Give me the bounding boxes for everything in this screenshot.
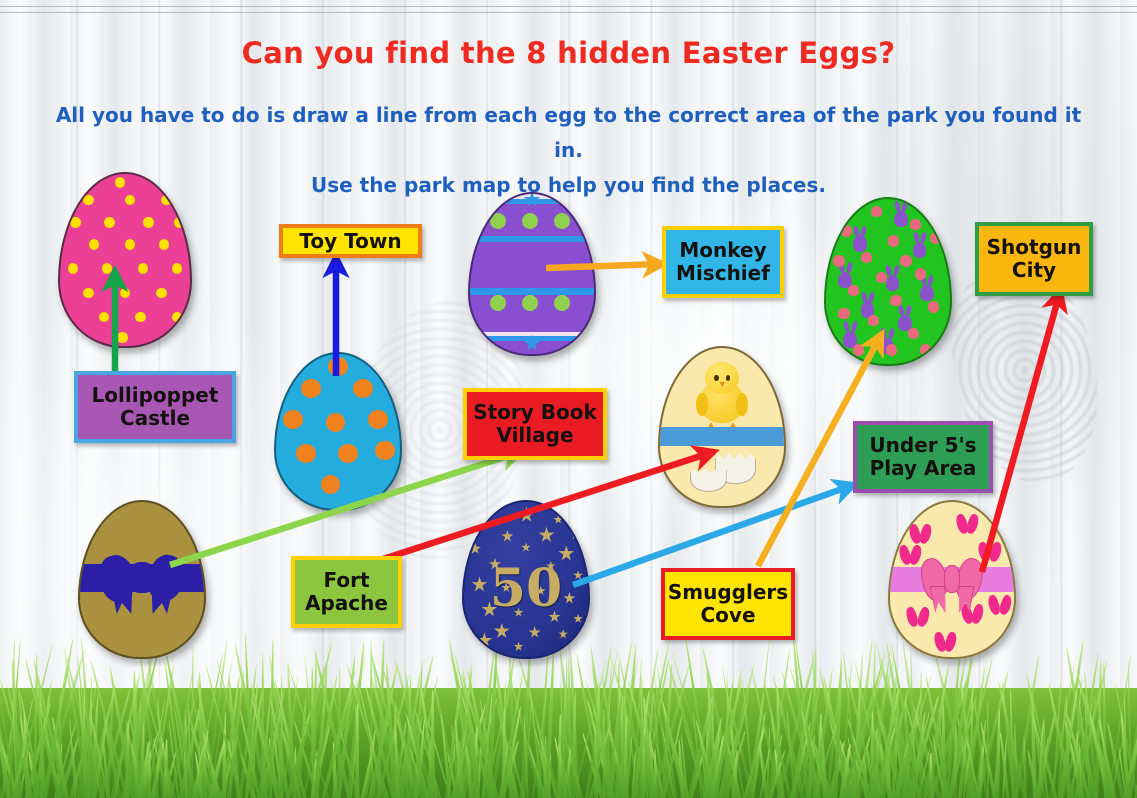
flower-icon	[910, 219, 921, 231]
egg-decoration	[161, 195, 171, 206]
flower-icon	[841, 225, 852, 237]
egg-decoration	[554, 213, 570, 229]
egg-decoration	[490, 213, 506, 229]
egg-decoration	[522, 295, 538, 311]
egg-decoration	[99, 312, 109, 323]
egg-decoration	[138, 263, 148, 274]
egg-decoration	[159, 239, 169, 250]
egg-decoration	[522, 213, 538, 229]
page-title: Can you find the 8 hidden Easter Eggs?	[0, 36, 1137, 70]
butterfly-icon	[962, 604, 983, 624]
egg-decoration	[321, 475, 341, 494]
egg-decoration	[125, 239, 135, 250]
egg-star	[553, 514, 563, 524]
label-toy-town[interactable]: Toy Town	[279, 224, 422, 258]
egg-star	[521, 542, 531, 552]
egg-star	[519, 507, 535, 524]
egg-decoration	[125, 195, 135, 206]
ribbon-bow-icon	[100, 555, 184, 602]
egg-stripe	[468, 236, 596, 242]
egg-stripe	[468, 288, 596, 294]
egg-decoration	[135, 312, 145, 323]
pink-bow-icon	[922, 558, 982, 601]
bunny-icon	[920, 285, 934, 302]
egg-decoration	[102, 263, 112, 274]
label-fort-apache[interactable]: Fort Apache	[291, 556, 402, 628]
butterfly-icon	[989, 595, 1010, 615]
egg-star	[558, 629, 568, 639]
label-lollipoppet-castle[interactable]: Lollipoppet Castle	[74, 371, 236, 443]
flower-icon	[886, 344, 897, 356]
egg-decoration	[83, 195, 93, 206]
label-monkey-mischief[interactable]: Monkey Mischief	[662, 226, 784, 298]
egg-star	[528, 626, 540, 639]
instructions-line-1: All you have to do is draw a line from e…	[40, 98, 1097, 168]
egg-decoration	[328, 357, 348, 376]
flower-icon	[900, 255, 911, 267]
top-frame-line	[0, 6, 1137, 7]
egg-decoration	[83, 288, 93, 299]
label-smugglers-cove[interactable]: Smugglers Cove	[661, 568, 795, 640]
cracked-shell-icon	[690, 452, 757, 493]
egg-decoration	[117, 332, 127, 343]
egg-decoration	[353, 379, 373, 398]
egg-decoration	[375, 441, 395, 460]
egg-decoration	[89, 239, 99, 250]
butterfly-icon	[935, 632, 956, 652]
egg-decoration	[554, 295, 570, 311]
egg-decoration	[172, 263, 182, 274]
egg-decoration	[490, 295, 506, 311]
label-story-book-village[interactable]: Story Book Village	[463, 388, 607, 460]
egg-decoration	[301, 379, 321, 398]
egg-decoration	[174, 217, 184, 228]
flower-icon	[871, 206, 882, 218]
chick-icon	[690, 362, 754, 432]
flower-icon	[908, 328, 919, 340]
bunny-icon	[913, 242, 927, 259]
flower-icon	[848, 285, 859, 297]
flower-icon	[876, 272, 887, 284]
butterfly-icon	[900, 545, 921, 565]
egg-star	[538, 527, 554, 544]
bunny-icon	[886, 275, 900, 292]
egg-star	[514, 642, 524, 652]
egg-decoration	[115, 177, 125, 188]
egg-decoration	[68, 263, 78, 274]
top-frame-line-2	[0, 12, 1137, 13]
egg-decoration	[283, 410, 303, 429]
egg-decoration	[338, 444, 358, 463]
flower-icon	[930, 232, 941, 244]
flower-icon	[853, 344, 864, 356]
egg-star	[494, 623, 510, 640]
activity-sheet: Can you find the 8 hidden Easter Eggs? A…	[0, 0, 1137, 798]
egg-decoration	[143, 217, 153, 228]
flower-icon	[838, 308, 849, 320]
flower-icon	[928, 301, 939, 313]
egg-decoration	[156, 288, 166, 299]
butterfly-icon	[910, 524, 931, 544]
butterfly-icon	[907, 607, 928, 627]
flower-icon	[890, 295, 901, 307]
egg-band	[658, 427, 786, 446]
flower-icon	[833, 255, 844, 267]
flower-icon	[861, 252, 872, 264]
bunny-icon	[853, 235, 867, 252]
flower-icon	[868, 315, 879, 327]
instructions: All you have to do is draw a line from e…	[40, 98, 1097, 203]
egg-decoration	[70, 217, 80, 228]
egg-decoration	[326, 413, 346, 432]
egg-decoration	[368, 410, 388, 429]
egg-decoration	[120, 288, 130, 299]
butterfly-icon	[979, 542, 1000, 562]
butterfly-icon	[957, 514, 978, 534]
label-shotgun-city[interactable]: Shotgun City	[975, 222, 1093, 296]
egg-decoration	[296, 444, 316, 463]
label-under-5s-play-area[interactable]: Under 5's Play Area	[853, 421, 993, 493]
egg-star	[501, 530, 513, 543]
bunny-icon	[894, 211, 908, 228]
flower-icon	[888, 235, 899, 247]
egg-decoration	[104, 217, 114, 228]
